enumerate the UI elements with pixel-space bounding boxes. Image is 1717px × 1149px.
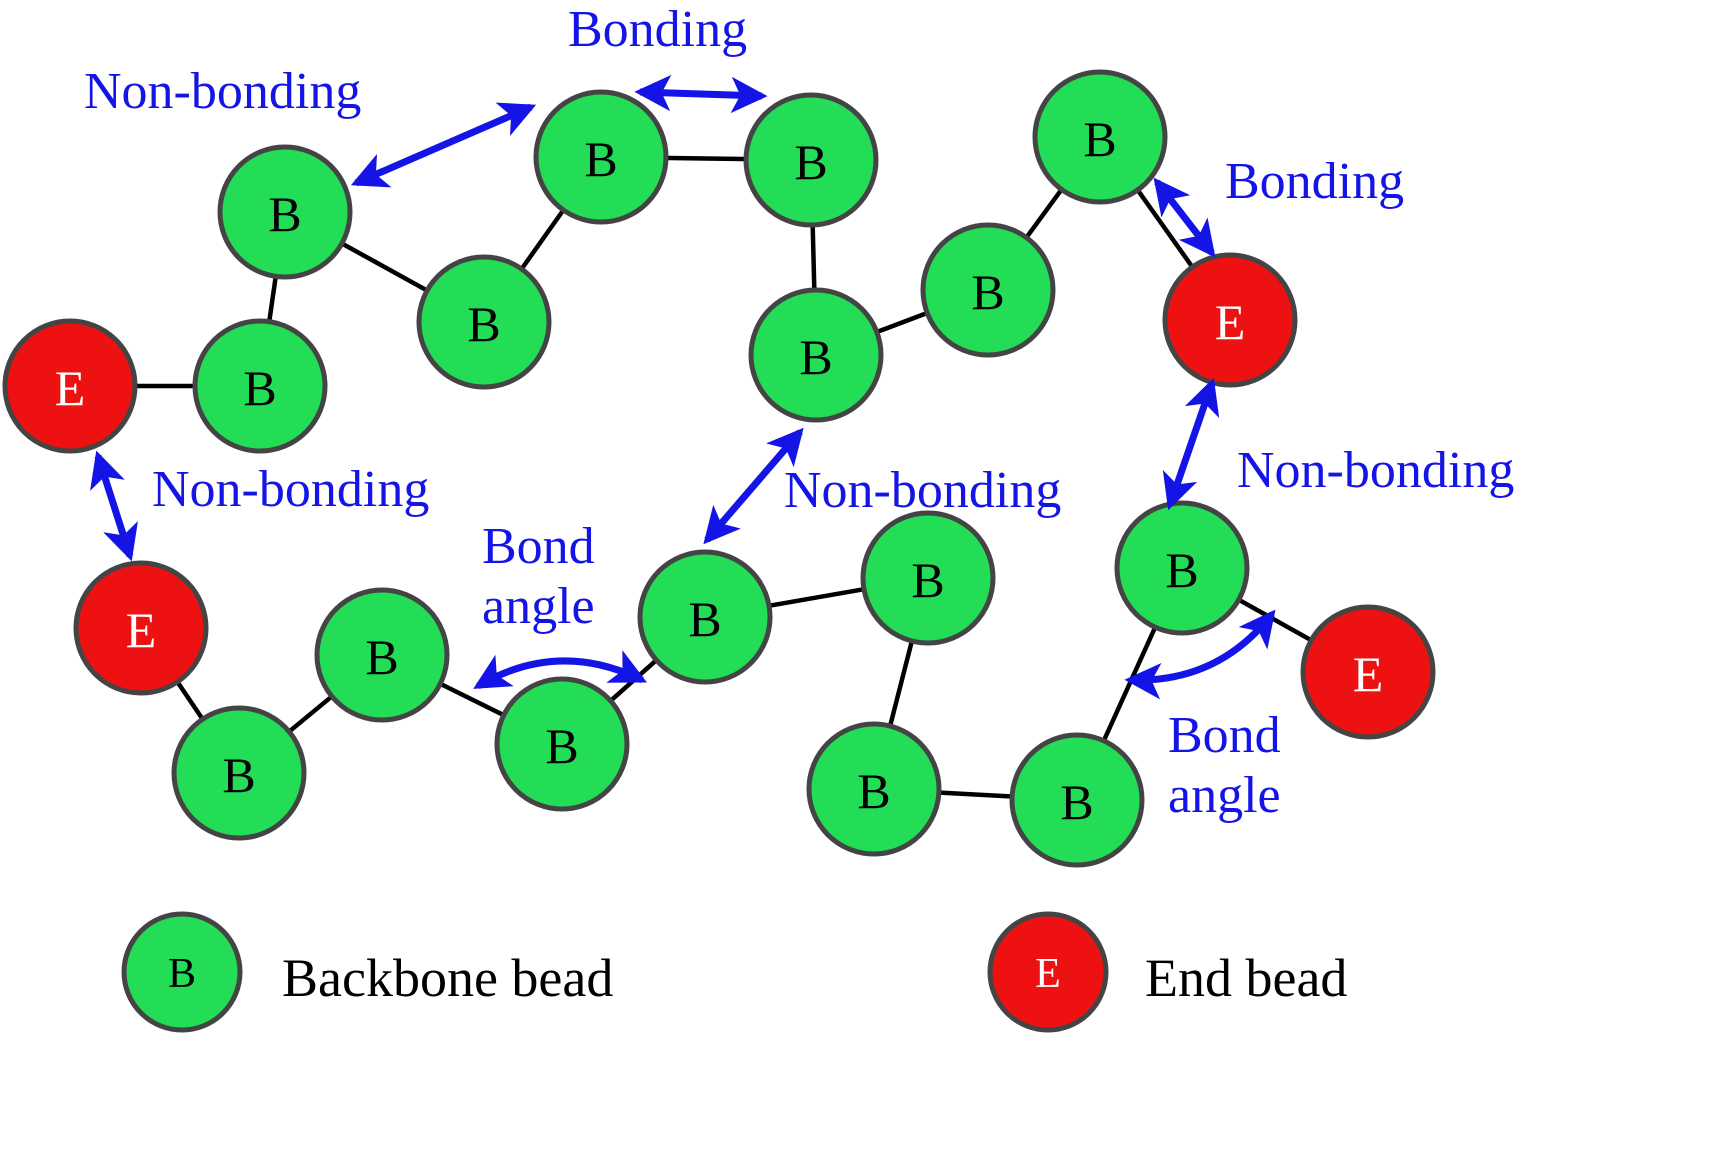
bond-line <box>1134 185 1196 272</box>
bead-label: B <box>799 329 832 385</box>
bead-b12: B <box>640 552 770 682</box>
double-headed-arrow <box>640 92 762 96</box>
bead-label: B <box>1060 774 1093 830</box>
bond-line <box>174 677 206 724</box>
bond-line <box>1023 185 1065 243</box>
bead-b16: B <box>1117 503 1247 633</box>
legend-end: EEnd bead <box>990 914 1347 1030</box>
legend-group: BBackbone beadEEnd bead <box>124 914 1347 1030</box>
bead-b14: B <box>809 724 939 854</box>
bead-e3: E <box>76 563 206 693</box>
bead-label: B <box>467 296 500 352</box>
bead-label: E <box>126 602 157 658</box>
bond-line <box>518 205 567 274</box>
double-headed-arrow <box>98 456 130 556</box>
bead-label: B <box>243 360 276 416</box>
legend-bead-label: B <box>168 951 196 997</box>
annotation-label: Non-bonding <box>84 63 361 120</box>
annotation-label: Bonding <box>1225 153 1404 210</box>
polymer-bead-diagram: BBBBBBBEEBEBBBBBBBBE Non-bondingBondingB… <box>0 0 1717 1149</box>
bead-label: B <box>688 591 721 647</box>
bead-b15: B <box>1012 735 1142 865</box>
bead-b3: B <box>536 92 666 222</box>
bead-label: B <box>365 629 398 685</box>
bond-line <box>889 635 914 732</box>
bead-label: E <box>1353 646 1384 702</box>
bond-line <box>435 681 509 718</box>
ann-nonbonding-left: Non-bonding <box>98 456 429 556</box>
double-headed-arrow <box>356 107 531 183</box>
annotation-label: Bonding <box>568 1 747 58</box>
ann-bondangle-right: Bondangle <box>1130 614 1281 824</box>
annotation-label: Bond <box>1168 707 1281 764</box>
bond-line <box>268 270 276 327</box>
bead-label: B <box>971 264 1004 320</box>
bead-b4: B <box>746 95 876 225</box>
bead-label: B <box>222 747 255 803</box>
bead-b7: B <box>1035 72 1165 202</box>
double-headed-arrow <box>1157 182 1212 253</box>
bond-line <box>763 588 870 607</box>
ann-bonding-top: Bonding <box>568 1 762 96</box>
annotation-label: angle <box>1168 767 1281 824</box>
bond-line <box>285 693 337 736</box>
bond-line <box>933 792 1018 797</box>
ann-bonding-right: Bonding <box>1157 153 1404 253</box>
bead-b10: B <box>317 590 447 720</box>
bead-b1: B <box>220 147 350 277</box>
annotation-label: Non-bonding <box>784 462 1061 519</box>
bead-b11: B <box>497 679 627 809</box>
legend-bead-label: E <box>1035 951 1061 997</box>
bead-b5: B <box>751 290 881 420</box>
ann-nonbonding-right: Non-bonding <box>1170 383 1514 505</box>
bond-line <box>1101 622 1157 746</box>
bead-b6: B <box>923 225 1053 355</box>
bead-b9: B <box>174 708 304 838</box>
bead-label: B <box>1083 111 1116 167</box>
annotation-label: Non-bonding <box>152 461 429 518</box>
bead-label: E <box>55 360 86 416</box>
diagram-canvas: BBBBBBBEEBEBBBBBBBBE Non-bondingBondingB… <box>0 0 1717 1149</box>
bead-label: B <box>584 131 617 187</box>
bead-b8: B <box>195 321 325 451</box>
bead-label: B <box>857 763 890 819</box>
bead-label: B <box>911 552 944 608</box>
annotation-label: angle <box>482 578 595 635</box>
bond-line <box>337 241 433 294</box>
bead-b13: B <box>863 513 993 643</box>
annotation-label: Non-bonding <box>1237 442 1514 499</box>
ann-nonbonding-center: Non-bonding <box>707 432 1061 540</box>
bond-line <box>1233 597 1316 643</box>
bead-label: B <box>268 186 301 242</box>
bead-label: B <box>545 718 578 774</box>
bead-label: E <box>1215 294 1246 350</box>
bead-label: B <box>794 134 827 190</box>
double-headed-arrow <box>1170 383 1212 505</box>
legend-item-text: Backbone bead <box>282 948 613 1008</box>
ann-bondangle-left: Bondangle <box>478 518 642 686</box>
bead-label: B <box>1165 542 1198 598</box>
bead-e4: E <box>1303 607 1433 737</box>
legend-item-text: End bead <box>1145 948 1347 1008</box>
bead-e2: E <box>5 321 135 451</box>
bead-b2: B <box>419 257 549 387</box>
bond-line <box>813 219 815 296</box>
legend-backbone: BBackbone bead <box>124 914 613 1030</box>
bond-line <box>606 656 661 705</box>
bead-e1: E <box>1165 255 1295 385</box>
annotation-label: Bond <box>482 518 595 575</box>
bond-line <box>660 158 752 159</box>
bond-line <box>871 311 933 334</box>
